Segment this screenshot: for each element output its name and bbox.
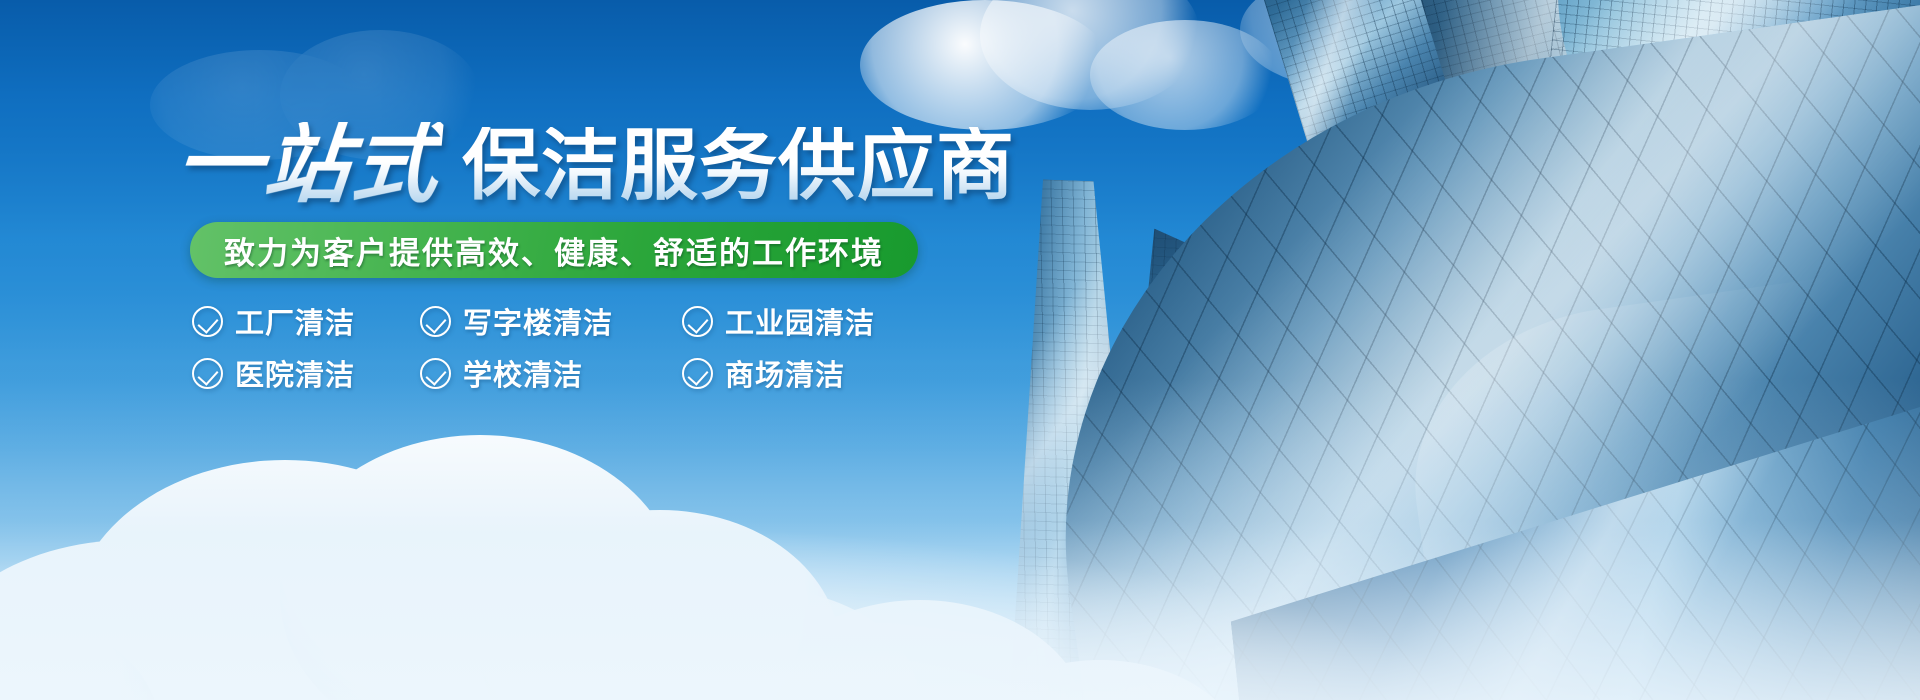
tagline-badge: 致力为客户提供高效、健康、舒适的工作环境: [190, 222, 918, 278]
banner-content: 一站式 保洁服务供应商 致力为客户提供高效、健康、舒适的工作环境 工厂清洁 写字…: [0, 0, 1000, 700]
check-circle-icon: [420, 306, 451, 337]
service-label: 工厂清洁: [235, 300, 355, 342]
service-label: 医院清洁: [235, 352, 355, 394]
service-list: 工厂清洁 写字楼清洁 工业园清洁 医院清洁 学校清洁 商场清洁: [192, 296, 875, 398]
service-label: 写字楼清洁: [463, 300, 613, 342]
check-circle-icon: [682, 306, 713, 337]
check-circle-icon: [192, 306, 223, 337]
service-item[interactable]: 学校清洁: [420, 348, 682, 398]
service-item[interactable]: 医院清洁: [192, 348, 420, 398]
hero-banner: 一站式 保洁服务供应商 致力为客户提供高效、健康、舒适的工作环境 工厂清洁 写字…: [0, 0, 1920, 700]
service-label: 学校清洁: [463, 352, 583, 394]
service-item[interactable]: 工业园清洁: [682, 296, 875, 346]
check-circle-icon: [682, 358, 713, 389]
headline-lead: 一站式: [172, 122, 444, 208]
service-item[interactable]: 工厂清洁: [192, 296, 420, 346]
check-circle-icon: [420, 358, 451, 389]
service-label: 商场清洁: [725, 352, 845, 394]
tagline-text: 致力为客户提供高效、健康、舒适的工作环境: [224, 228, 884, 273]
check-circle-icon: [192, 358, 223, 389]
service-label: 工业园清洁: [725, 300, 875, 342]
headline-rest: 保洁服务供应商: [462, 127, 1015, 205]
banner-headline: 一站式 保洁服务供应商: [176, 122, 1015, 208]
service-item[interactable]: 写字楼清洁: [420, 296, 682, 346]
service-item[interactable]: 商场清洁: [682, 348, 875, 398]
